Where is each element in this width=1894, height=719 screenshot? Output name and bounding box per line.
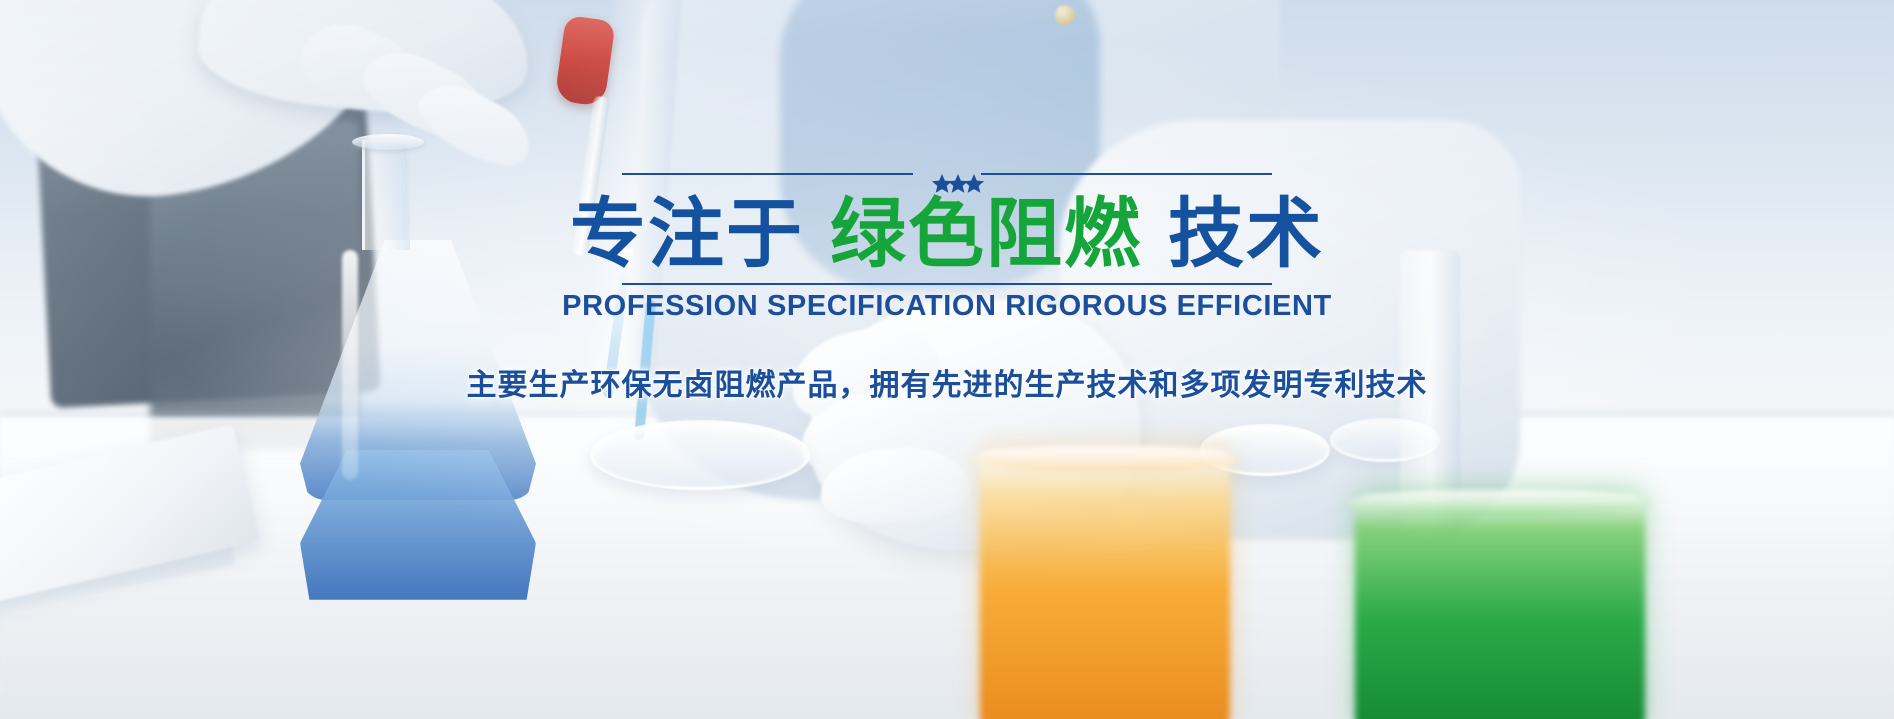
page-title: 专注于绿色阻燃技术	[570, 196, 1324, 272]
hero-banner: 专注于绿色阻燃技术 PROFESSION SPECIFICATION RIGOR…	[0, 0, 1894, 719]
headline-bottom-divider	[622, 283, 1272, 285]
divider-line-right	[981, 173, 1272, 175]
description-text: 主要生产环保无卤阻燃产品，拥有先进的生产技术和多项发明专利技术	[467, 360, 1428, 404]
headline-top-divider	[622, 173, 1272, 175]
headline-part-2: 绿色阻燃	[830, 189, 1142, 278]
headline-part-1: 专注于	[570, 189, 804, 278]
headline-part-3: 技术	[1168, 189, 1324, 278]
subtitle-english: PROFESSION SPECIFICATION RIGOROUS EFFICI…	[562, 290, 1332, 323]
divider-line-left	[622, 173, 913, 175]
banner-content: 专注于绿色阻燃技术 PROFESSION SPECIFICATION RIGOR…	[0, 0, 1894, 719]
